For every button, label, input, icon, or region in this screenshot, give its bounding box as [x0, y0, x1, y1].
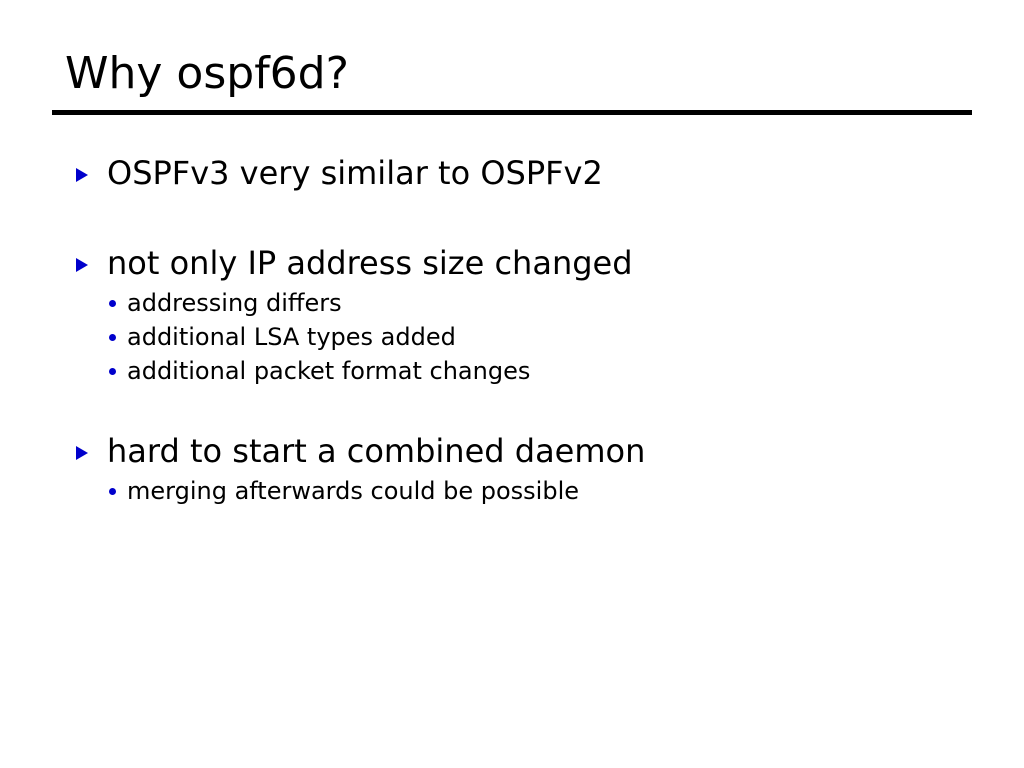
title-divider	[52, 110, 972, 115]
bullet-group: not only IP address size changed address…	[0, 242, 1024, 388]
group-spacer	[0, 388, 1024, 430]
blue-triangle-bullet-icon	[76, 168, 88, 182]
blue-triangle-bullet-icon	[76, 446, 88, 460]
list-item-level2: merging afterwards could be possible	[0, 474, 1024, 508]
list-item-level1-label: not only IP address size changed	[107, 244, 633, 282]
list-item-level2: additional LSA types added	[0, 320, 1024, 354]
sub-list: addressing differs additional LSA types …	[0, 286, 1024, 388]
blue-triangle-bullet-icon	[76, 258, 88, 272]
blue-dot-bullet-icon	[109, 488, 116, 495]
list-item-level1-label: hard to start a combined daemon	[107, 432, 645, 470]
slide: Why ospf6d? OSPFv3 very similar to OSPFv…	[0, 0, 1024, 768]
bullet-group: hard to start a combined daemon merging …	[0, 430, 1024, 508]
group-spacer	[0, 194, 1024, 242]
list-item-level1: OSPFv3 very similar to OSPFv2	[0, 152, 1024, 194]
list-item-level2-label: merging afterwards could be possible	[127, 477, 579, 505]
list-item-level2-label: additional LSA types added	[127, 323, 456, 351]
bullet-group: OSPFv3 very similar to OSPFv2	[0, 152, 1024, 194]
list-item-level1: hard to start a combined daemon	[0, 430, 1024, 472]
blue-dot-bullet-icon	[109, 300, 116, 307]
blue-dot-bullet-icon	[109, 368, 116, 375]
blue-dot-bullet-icon	[109, 334, 116, 341]
list-item-level2: addressing differs	[0, 286, 1024, 320]
page-title: Why ospf6d?	[65, 48, 965, 100]
list-item-level2-label: additional packet format changes	[127, 357, 530, 385]
list-item-level1-label: OSPFv3 very similar to OSPFv2	[107, 154, 603, 192]
list-item-level2: additional packet format changes	[0, 354, 1024, 388]
list-item-level2-label: addressing differs	[127, 289, 342, 317]
list-item-level1: not only IP address size changed	[0, 242, 1024, 284]
slide-body: OSPFv3 very similar to OSPFv2 not only I…	[0, 152, 1024, 508]
sub-list: merging afterwards could be possible	[0, 474, 1024, 508]
